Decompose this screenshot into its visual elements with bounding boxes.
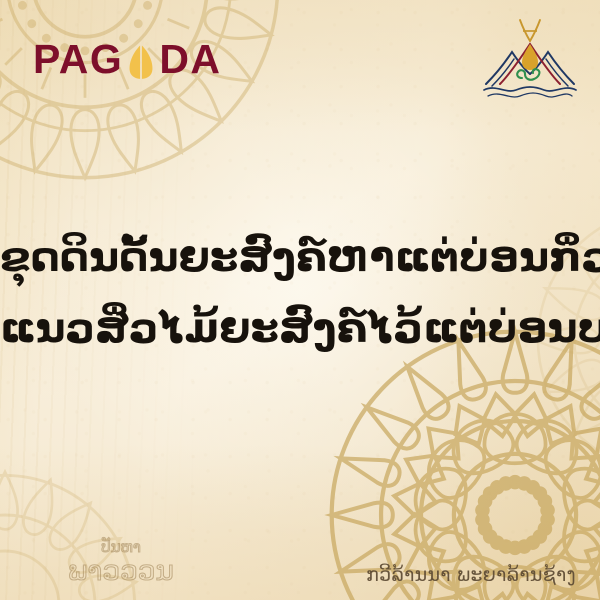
watermark-line-large: ພາວວວນ (68, 554, 174, 587)
verse-line-2: ແນວສິ່ວໄມ້ຍະສົງຄ໌ໄວ້ແຕ່ບ່ອນບາງ (0, 293, 600, 364)
mandala-top-left (0, 0, 320, 220)
verse-line-1: ຂຸດດິນດັ້ນຍະສົງຄ໌ຫາແຕ່ບ່ອນກິ່ວ (0, 222, 600, 293)
brand-name-suffix: DA (159, 39, 221, 80)
lanna-temple-gable-icon (482, 14, 578, 106)
pagoda-lao-watermark-icon: ປັນຫາ ພາວວວນ (34, 530, 209, 592)
credit-line: ກວີລ້ານນາ ພະຍາລ້ານຊ້າງ (366, 564, 576, 586)
brand-logo[interactable]: PAG DA (33, 36, 222, 82)
verse-block: ຂຸດດິນດັ້ນຍະສົງຄ໌ຫາແຕ່ບ່ອນກິ່ວ ແນວສິ່ວໄມ… (0, 222, 600, 363)
watermark-line-small: ປັນຫາ (101, 535, 141, 556)
brand-name-prefix: PAG (33, 39, 123, 80)
poster-card: PAG DA ຂຸດດິນດັ້ນຍະສົງຄ໌ຫາແຕ່ບ່ອນກິ່ວ (0, 0, 600, 600)
pagoda-leaf-icon (124, 44, 158, 80)
